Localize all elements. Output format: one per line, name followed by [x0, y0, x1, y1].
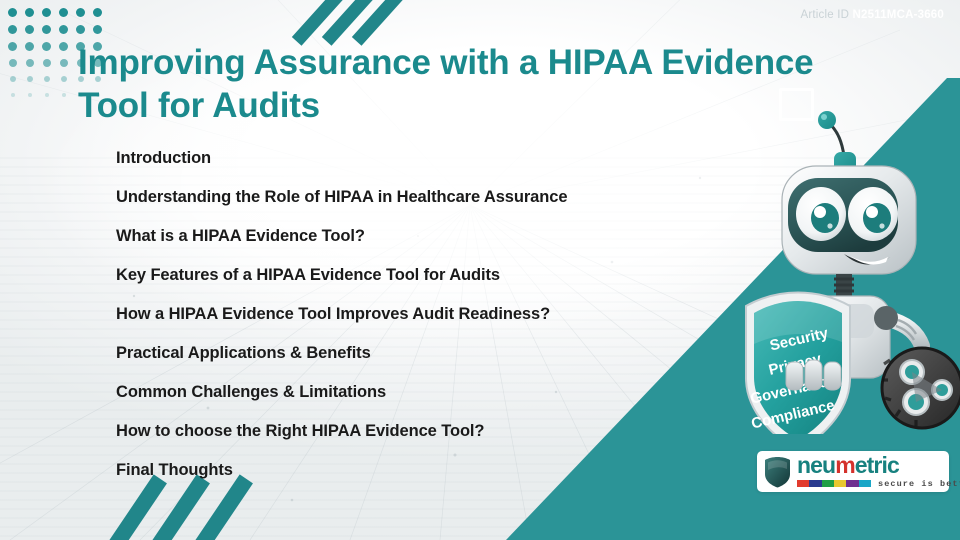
- agenda-item-label: Practical Applications & Benefits: [116, 344, 371, 363]
- list-item: How a HIPAA Evidence Tool Improves Audit…: [116, 295, 716, 334]
- article-id-value: N2511MCA-3660: [853, 9, 944, 21]
- agenda-item-label: Introduction: [116, 149, 211, 168]
- list-item: Introduction: [116, 139, 716, 178]
- logo-word-part1: neu: [797, 452, 835, 478]
- logo-word-part2: m: [835, 452, 855, 478]
- shield-icon: [763, 455, 792, 488]
- list-item: Key Features of a HIPAA Evidence Tool fo…: [116, 256, 716, 295]
- slide-canvas: Article ID N2511MCA-3660 Improving Assur…: [0, 0, 960, 540]
- agenda-item-label: Final Thoughts: [116, 461, 233, 480]
- logo-tagline: secure is better: [878, 479, 960, 489]
- agenda-item-label: Common Challenges & Limitations: [116, 383, 386, 402]
- logo-word-part3: etric: [855, 452, 899, 478]
- page-title: Improving Assurance with a HIPAA Evidenc…: [78, 42, 868, 127]
- logo-color-bar: [797, 480, 871, 487]
- logo-text: neumetric secure is better: [797, 454, 960, 489]
- list-item: Final Thoughts: [116, 451, 716, 490]
- agenda-list: Introduction Understanding the Role of H…: [116, 139, 716, 490]
- list-item: What is a HIPAA Evidence Tool?: [116, 217, 716, 256]
- agenda-item-label: What is a HIPAA Evidence Tool?: [116, 227, 365, 246]
- article-id-label: Article ID: [800, 9, 849, 21]
- agenda-item-label: How a HIPAA Evidence Tool Improves Audit…: [116, 305, 550, 324]
- list-item: How to choose the Right HIPAA Evidence T…: [116, 412, 716, 451]
- list-item: Common Challenges & Limitations: [116, 373, 716, 412]
- logo-wordmark: neumetric: [797, 454, 960, 477]
- logo-bottom-row: secure is better: [797, 479, 960, 489]
- list-item: Understanding the Role of HIPAA in Healt…: [116, 178, 716, 217]
- robot-mascot: Security Privacy Governance Compliance: [726, 104, 960, 434]
- agenda-item-label: How to choose the Right HIPAA Evidence T…: [116, 422, 484, 441]
- agenda-item-label: Key Features of a HIPAA Evidence Tool fo…: [116, 266, 500, 285]
- neumetric-logo[interactable]: neumetric secure is better: [757, 451, 949, 492]
- decorative-stripes-top: [330, 0, 450, 44]
- agenda-item-label: Understanding the Role of HIPAA in Healt…: [116, 188, 567, 207]
- list-item: Practical Applications & Benefits: [116, 334, 716, 373]
- article-id: Article ID N2511MCA-3660: [800, 9, 944, 21]
